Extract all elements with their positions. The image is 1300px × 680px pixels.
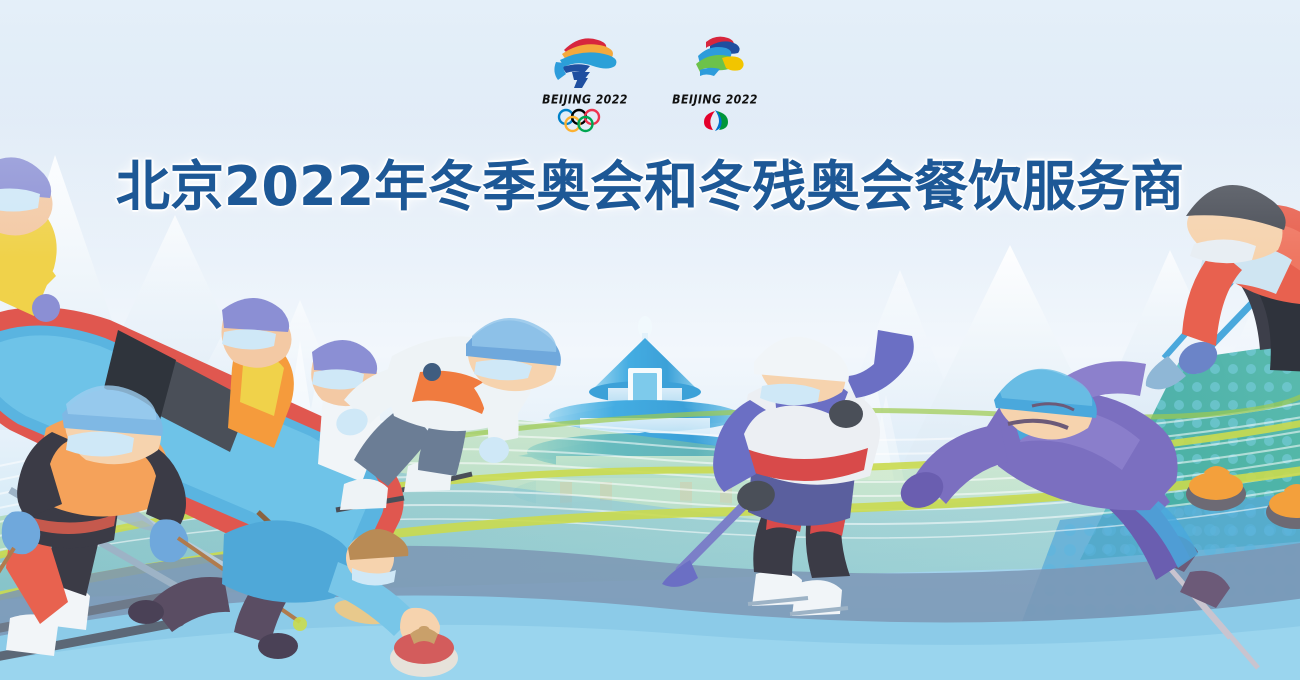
olympic-wordmark: BEIJING 2022 xyxy=(537,92,633,107)
winter-dong-ribbon-icon xyxy=(546,32,624,90)
page-title: 北京2022年冬季奥会和冬残奥会餐饮服务商 xyxy=(116,142,1184,221)
page-title-wrapper: 北京2022年冬季奥会和冬残奥会餐饮服务商 xyxy=(0,142,1300,221)
beijing-2022-olympic-emblem: BEIJING 2022 xyxy=(537,32,633,134)
paralympic-wordmark: BEIJING 2022 xyxy=(667,92,763,107)
agitos-icon xyxy=(684,108,746,134)
beijing-2022-paralympic-emblem: BEIJING 2022 xyxy=(667,32,763,134)
emblem-row: BEIJING 2022 BEIJING 20 xyxy=(0,32,1300,134)
beijing-2022-banner: BEIJING 2022 BEIJING 20 xyxy=(0,0,1300,680)
flying-fei-ribbon-icon xyxy=(676,32,754,90)
olympic-rings-icon xyxy=(554,108,616,134)
